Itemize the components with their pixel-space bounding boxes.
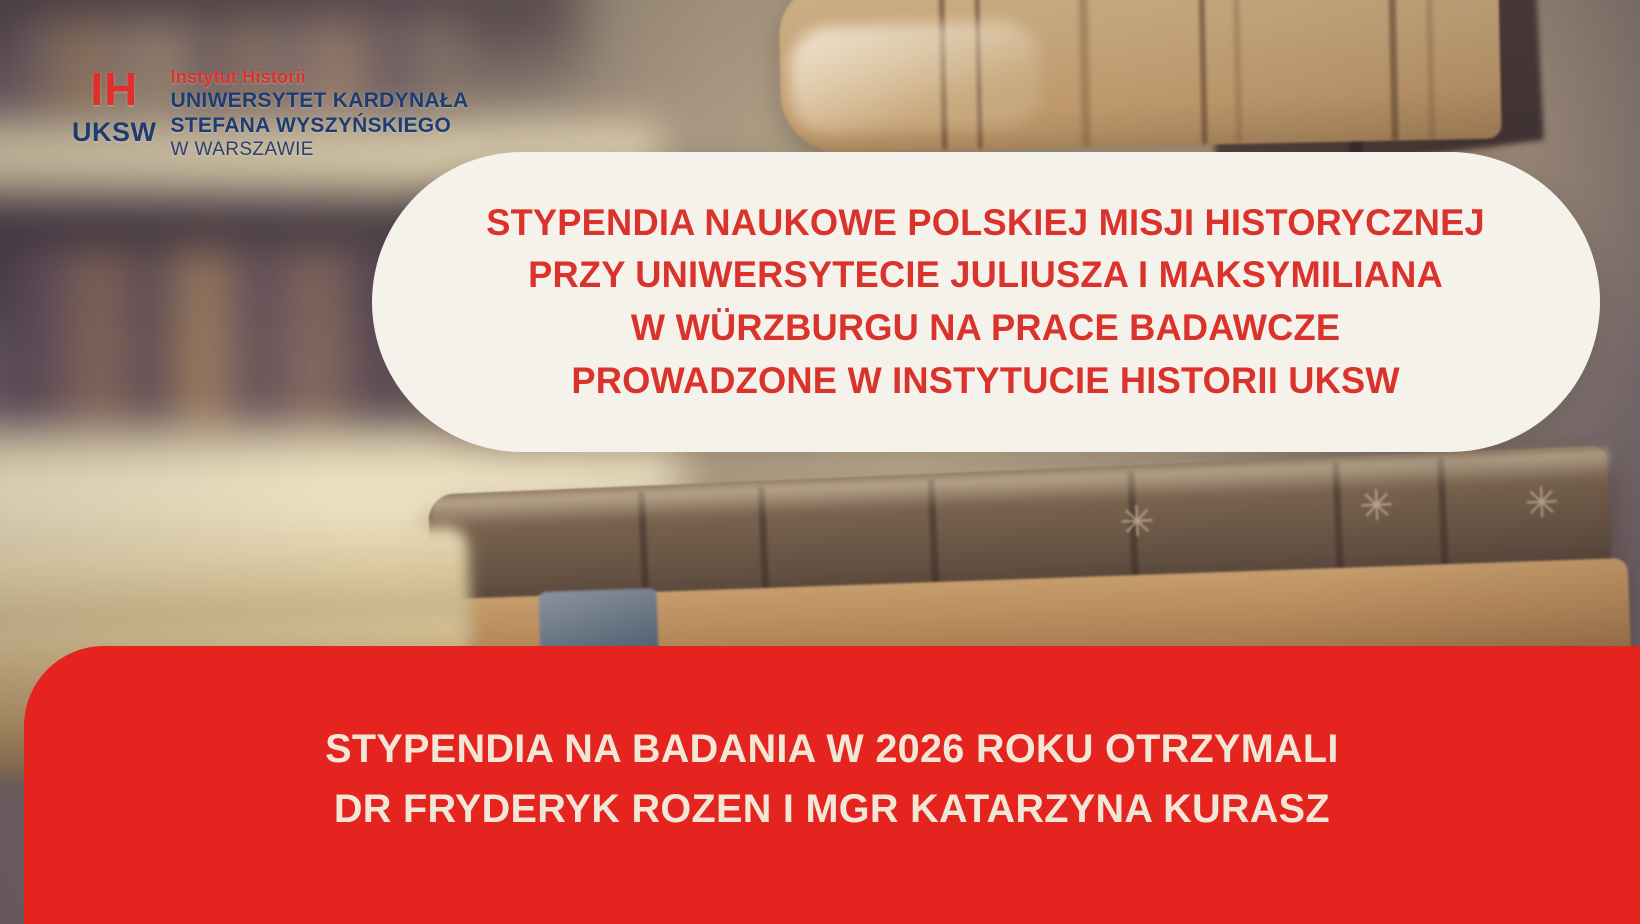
headline-line-4: PROWADZONE W INSTYTUCIE HISTORII UKSW [487, 355, 1486, 408]
logo-city-line: W WARSZAWIE [171, 138, 469, 162]
logo-monogram: IH UKSW [72, 64, 157, 146]
logo-uksw-text: UKSW [72, 119, 157, 146]
logo-university-line-1: UNIWERSYTET KARDYNAŁA [171, 88, 469, 113]
logo-ih-text: IH [90, 66, 138, 112]
headline-line-3: W WÜRZBURGU NA PRACE BADAWCZE [487, 302, 1486, 355]
headline-line-1: STYPENDIA NAUKOWE POLSKIEJ MISJI HISTORY… [487, 197, 1486, 250]
headline-card: STYPENDIA NAUKOWE POLSKIEJ MISJI HISTORY… [372, 152, 1600, 452]
logo-university-line-2: STEFANA WYSZYŃSKIEGO [171, 113, 469, 138]
uksw-logo: IH UKSW Instytut Historii UNIWERSYTET KA… [72, 64, 468, 162]
recipients-line-1: STYPENDIA NA BADANIA W 2026 ROKU OTRZYMA… [325, 719, 1339, 779]
recipients-banner: STYPENDIA NA BADANIA W 2026 ROKU OTRZYMA… [24, 646, 1640, 924]
recipients-text: STYPENDIA NA BADANIA W 2026 ROKU OTRZYMA… [325, 719, 1339, 839]
logo-institute-line: Instytut Historii [171, 67, 469, 88]
headline-text: STYPENDIA NAUKOWE POLSKIEJ MISJI HISTORY… [447, 197, 1524, 407]
poster-root: ✳ ✳ ✳ IH UKSW Instytut Historii UNIWERSY… [0, 0, 1640, 924]
recipients-line-2: DR FRYDERYK ROZEN I MGR KATARZYNA KURASZ [325, 779, 1339, 839]
headline-line-2: PRZY UNIWERSYTECIE JULIUSZA I MAKSYMILIA… [487, 249, 1486, 302]
logo-wordmark: Instytut Historii UNIWERSYTET KARDYNAŁA … [171, 64, 469, 162]
